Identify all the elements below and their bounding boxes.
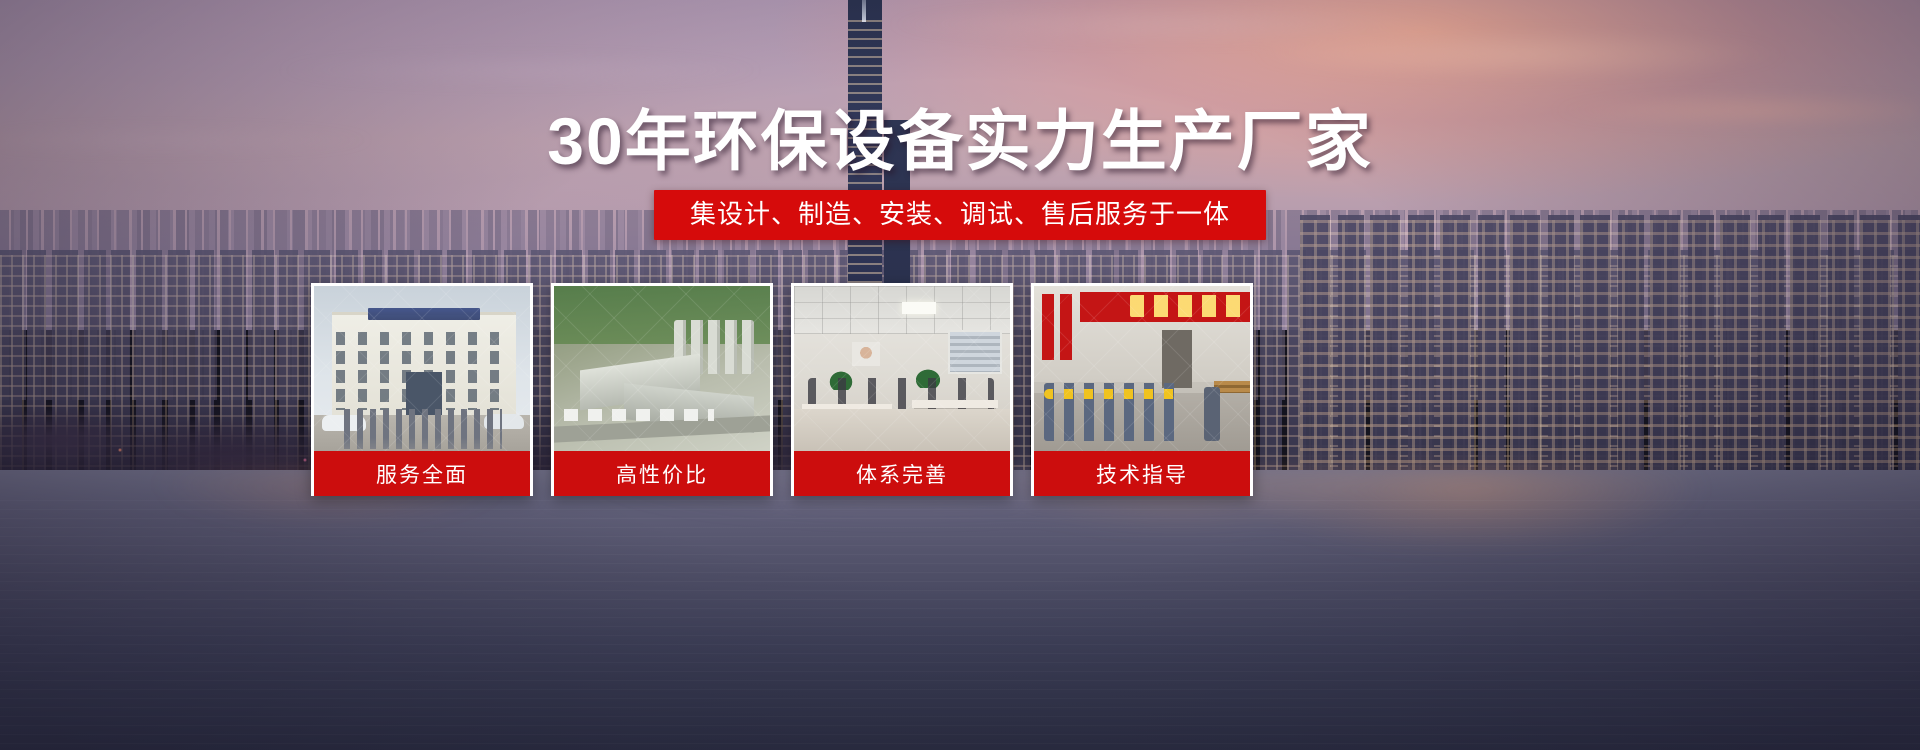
- card-photo-company-office-building-with-staff: [314, 286, 530, 451]
- banner-content: 30年环保设备实力生产厂家 集设计、制造、安装、调试、售后服务于一体: [0, 0, 1920, 750]
- banner-headline: 30年环保设备实力生产厂家: [0, 104, 1920, 178]
- card-caption: 体系完善: [794, 451, 1010, 496]
- feature-card-list: 服务全面 高性价比: [311, 283, 1253, 496]
- office-desk-right: [912, 400, 998, 408]
- feature-card[interactable]: 服务全面: [311, 283, 533, 496]
- office-window-blinds: [948, 330, 1002, 374]
- hero-banner: 30年环保设备实力生产厂家 集设计、制造、安装、调试、售后服务于一体: [0, 0, 1920, 750]
- card-caption: 技术指导: [1034, 451, 1250, 496]
- banner-lettering: [1130, 295, 1242, 317]
- subtitle-text: 集设计、制造、安装、调试、售后服务于一体: [690, 199, 1230, 229]
- office-floor: [794, 409, 1010, 451]
- card-caption: 高性价比: [554, 451, 770, 496]
- wall-decal: [852, 342, 880, 366]
- subtitle-badge: 集设计、制造、安装、调试、售后服务于一体: [654, 190, 1266, 240]
- card-photo-office-interior-with-employees: [794, 286, 1010, 451]
- feature-card[interactable]: 体系完善: [791, 283, 1013, 496]
- supervisor-figure: [1204, 387, 1220, 441]
- safety-helmets: [1044, 389, 1178, 399]
- staff-lineup: [344, 409, 502, 449]
- workshop-door: [1162, 330, 1192, 388]
- feature-card[interactable]: 技术指导: [1031, 283, 1253, 496]
- feature-card[interactable]: 高性价比: [551, 283, 773, 496]
- card-caption: 服务全面: [314, 451, 530, 496]
- card-photo-factory-workers-under-red-banner: [1034, 286, 1250, 451]
- vertical-red-banner-left: [1042, 294, 1054, 360]
- parked-trucks: [564, 409, 714, 421]
- vertical-red-banner-right: [1060, 294, 1072, 360]
- building-signboard: [368, 308, 480, 320]
- ceiling-light: [902, 302, 936, 314]
- card-photo-aerial-view-of-production-plant: [554, 286, 770, 451]
